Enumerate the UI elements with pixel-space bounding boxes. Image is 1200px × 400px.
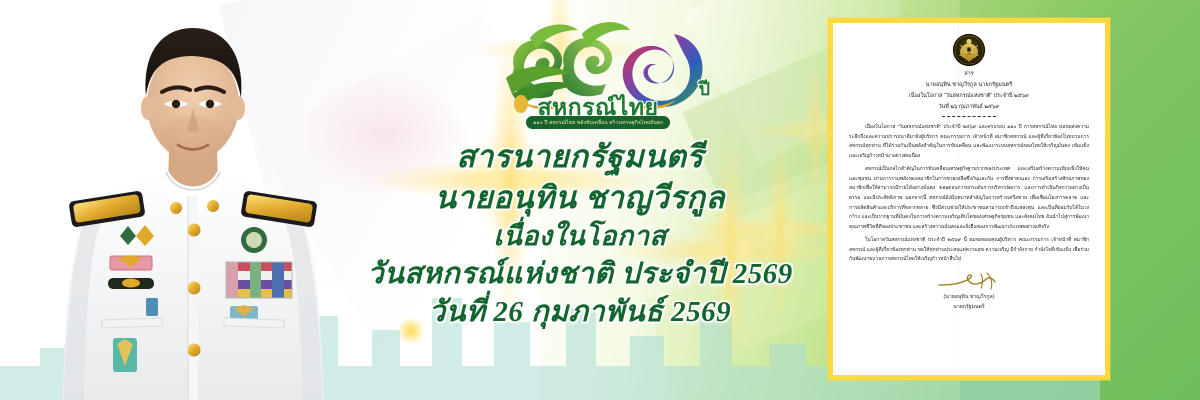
signature-title: นายกรัฐมนตรี bbox=[849, 303, 1089, 311]
signature-name: (นายอนุทิน ชาญวีรกูล) bbox=[849, 293, 1089, 301]
logo-tagline: ๑๑๐ ปี สหกรณ์ไทย พลังขับเคลื่อน สร้างเศร… bbox=[526, 116, 670, 129]
official-message-document[interactable]: สาร นายอนุทิน ชาญวีรกูล นายกรัฐมนตรี เนื… bbox=[828, 18, 1110, 380]
garuda-seal-icon bbox=[952, 33, 986, 67]
signature-mark-icon bbox=[849, 271, 1089, 293]
headline-line-2: นายอนุทิน ชาญวีรกูล bbox=[330, 181, 830, 216]
headline-line-3: เนื่องในโอกาส bbox=[330, 221, 830, 251]
document-paragraph: ในโอกาสวันสหกรณ์แห่งชาติ ประจำปี ๒๕๖๙ นี… bbox=[849, 236, 1089, 265]
document-occasion: เนื่องในโอกาส “วันสหกรณ์แห่งชาติ” ประจำป… bbox=[849, 92, 1089, 100]
headline-line-4: วันสหกรณ์แห่งชาติ ประจำปี 2569 bbox=[330, 258, 830, 290]
cooperative-110th-anniversary-logo: สหกรณ์ไทย ปี ๑๑๐ ปี สหกรณ์ไทย พลังขับเคล… bbox=[478, 16, 718, 138]
logo-years-suffix: ปี bbox=[699, 74, 710, 103]
prime-minister-portrait bbox=[58, 0, 328, 400]
document-heading: สาร นายอนุทิน ชาญวีรกูล นายกรัฐมนตรี เนื… bbox=[849, 70, 1089, 111]
document-divider bbox=[942, 116, 996, 117]
document-paragraph: สหกรณ์เป็นกลไกสำคัญในการขับเคลื่อนเศรษฐก… bbox=[849, 165, 1089, 232]
document-body: เนื่องในโอกาส “วันสหกรณ์แห่งชาติ” ประจำป… bbox=[849, 123, 1089, 265]
document-paragraph: เนื่องในโอกาส “วันสหกรณ์แห่งชาติ” ประจำป… bbox=[849, 123, 1089, 161]
document-fold-line bbox=[958, 23, 959, 375]
headline-line-5: วันที่ 26 กุมภาพันธ์ 2569 bbox=[330, 296, 830, 328]
national-cooperative-day-banner: สหกรณ์ไทย ปี ๑๑๐ ปี สหกรณ์ไทย พลังขับเคล… bbox=[0, 0, 1200, 400]
headline-line-1: สารนายกรัฐมนตรี bbox=[330, 140, 830, 175]
document-signature-block: (นายอนุทิน ชาญวีรกูล) นายกรัฐมนตรี bbox=[849, 271, 1089, 311]
document-title: สาร bbox=[849, 70, 1089, 78]
document-date: วันที่ ๒๖ กุมภาพันธ์ ๒๕๖๙ bbox=[849, 103, 1089, 111]
document-from: นายอนุทิน ชาญวีรกูล นายกรัฐมนตรี bbox=[849, 81, 1089, 89]
headline-block: สารนายกรัฐมนตรี นายอนุทิน ชาญวีรกูล เนื่… bbox=[330, 140, 830, 329]
